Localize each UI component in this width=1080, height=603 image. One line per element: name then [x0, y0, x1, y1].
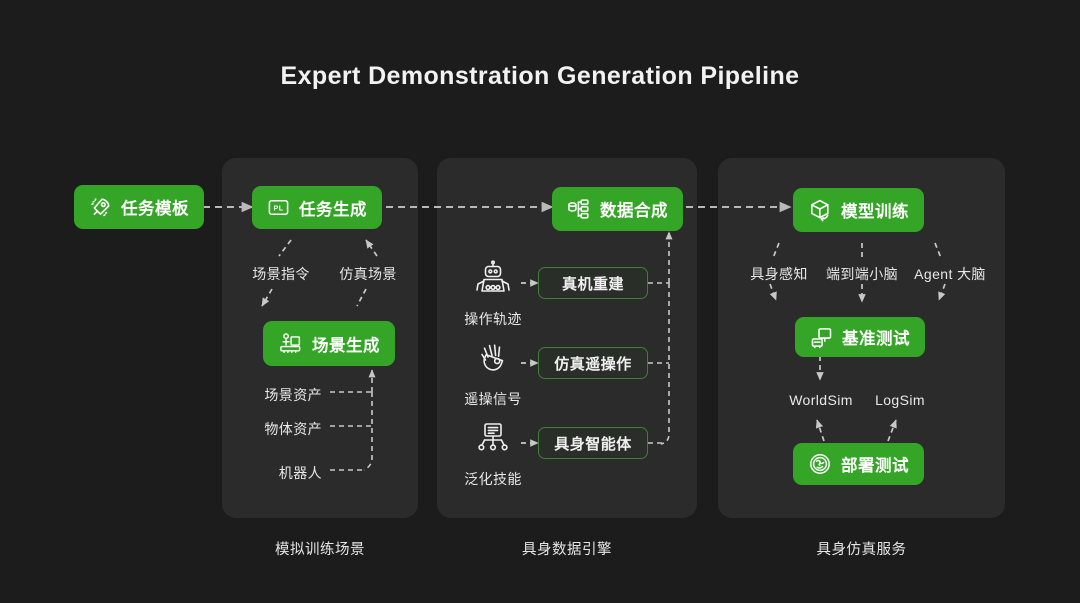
node-task-template[interactable]: 任务模板: [74, 185, 204, 229]
node-label: 模型训练: [841, 198, 909, 222]
row-label-generalization-skills: 泛化技能: [452, 469, 534, 489]
edge-label-scene-instruction: 场景指令: [241, 264, 321, 284]
train-label-agent-brain: Agent 大脑: [900, 264, 1000, 284]
node-deployment-test[interactable]: 部署测试: [793, 443, 924, 485]
svg-text:PL: PL: [273, 205, 283, 213]
data-branch-icon: [567, 197, 591, 221]
node-label: 任务生成: [299, 196, 367, 220]
pl-badge-icon: PL: [267, 196, 290, 219]
node-benchmark-test[interactable]: 基准测试: [795, 317, 925, 357]
benchmark-screen-icon: [810, 326, 833, 349]
box-embodied-agent[interactable]: 具身智能体: [538, 427, 648, 459]
node-label: 任务模板: [121, 195, 189, 219]
box-simulated-teleoperation[interactable]: 仿真遥操作: [538, 347, 648, 379]
embodied-agent-icon: [472, 420, 514, 462]
scene-worker-icon: [278, 331, 303, 356]
diagram-canvas: Expert Demonstration Generation Pipeline: [0, 0, 1080, 603]
node-label: 数据合成: [600, 197, 668, 221]
asset-label-scene-assets: 场景资产: [236, 385, 322, 405]
node-data-synthesis[interactable]: 数据合成: [552, 187, 683, 231]
node-model-training[interactable]: 模型训练: [793, 188, 924, 232]
node-task-generation[interactable]: PL 任务生成: [252, 186, 382, 229]
asset-label-robot: 机器人: [236, 463, 322, 483]
node-label: 场景生成: [312, 332, 380, 356]
row-label-teleop-signal: 遥操信号: [452, 389, 534, 409]
train-label-embodied-perception: 具身感知: [735, 264, 823, 284]
caption-embodied-data-engine: 具身数据引擎: [437, 538, 697, 559]
train-label-end-to-end-cerebellum: 端到端小脑: [812, 264, 912, 284]
robot-icon: [472, 260, 514, 302]
rocket-icon: [89, 196, 112, 219]
page-title: Expert Demonstration Generation Pipeline: [0, 62, 1080, 91]
sim-label-logsim: LogSim: [860, 392, 940, 408]
node-scene-generation[interactable]: 场景生成: [263, 321, 395, 366]
node-label: 部署测试: [841, 452, 909, 476]
glove-icon: [472, 340, 514, 382]
deploy-globe-icon: [808, 452, 832, 476]
edge-label-simulation-scene: 仿真场景: [328, 264, 408, 284]
node-label: 基准测试: [842, 325, 910, 349]
caption-embodied-simulation-service: 具身仿真服务: [718, 538, 1005, 559]
asset-label-object-assets: 物体资产: [236, 419, 322, 439]
cube-refresh-icon: [808, 198, 832, 222]
box-real-machine-reconstruction[interactable]: 真机重建: [538, 267, 648, 299]
sim-label-worldsim: WorldSim: [775, 392, 867, 408]
caption-simulation-training-scene: 模拟训练场景: [222, 538, 418, 559]
row-label-operation-trajectory: 操作轨迹: [452, 309, 534, 329]
